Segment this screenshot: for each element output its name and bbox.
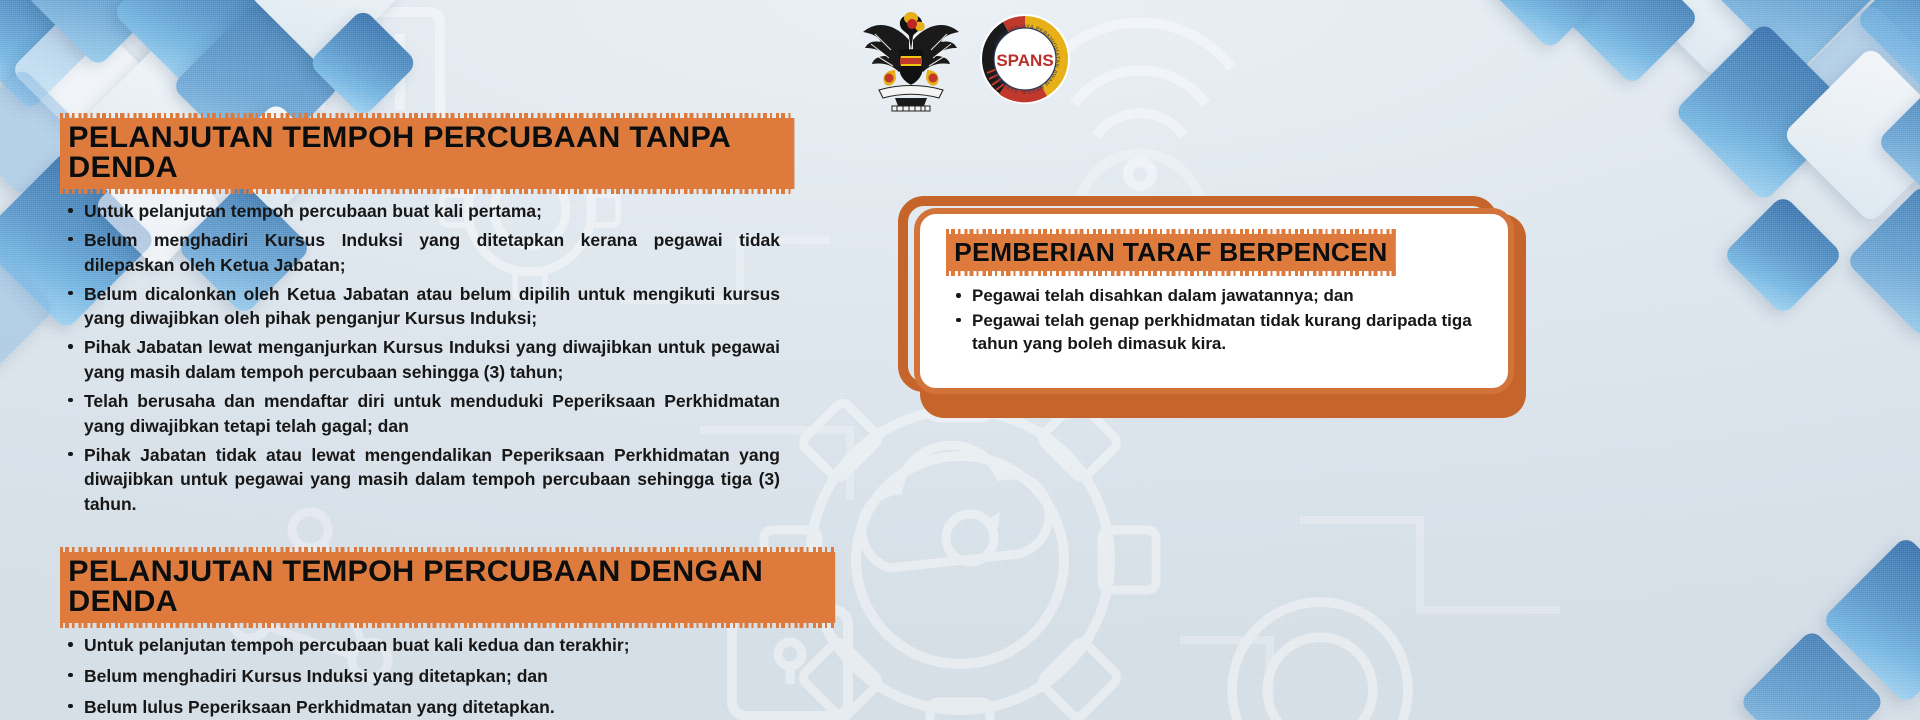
card-heading-wrap: PEMBERIAN TARAF BERPENCEN xyxy=(946,234,1482,271)
pemberian-taraf-berpencen-card: PEMBERIAN TARAF BERPENCEN Pegawai telah … xyxy=(898,196,1526,418)
gear-bottom-right-icon xyxy=(1232,602,1408,720)
section-dengan-denda: PELANJUTAN TEMPOH PERCUBAAN DENGAN DENDA… xyxy=(60,552,820,720)
list-item: Pegawai telah disahkan dalam jawatannya;… xyxy=(946,285,1482,308)
card-heading: PEMBERIAN TARAF BERPENCEN xyxy=(946,234,1396,271)
list-item: Untuk pelanjutan tempoh percubaan buat k… xyxy=(60,633,820,658)
list-item: Pihak Jabatan tidak atau lewat mengendal… xyxy=(60,443,780,518)
list-item: Belum dicalonkan oleh Ketua Jabatan atau… xyxy=(60,282,780,332)
section-tanpa-denda: PELANJUTAN TEMPOH PERCUBAAN TANPA DENDA … xyxy=(60,118,780,521)
section-2-heading-wrap: PELANJUTAN TEMPOH PERCUBAAN DENGAN DENDA xyxy=(60,552,820,623)
logo-row: SURUHANJAYA PERKHIDMATAN AWAM NEGERI SAR… xyxy=(855,6,1075,112)
wifi-icon xyxy=(1048,23,1232,186)
section-1-heading: PELANJUTAN TEMPOH PERCUBAAN TANPA DENDA xyxy=(60,118,794,189)
list-item: Pihak Jabatan lewat menganjurkan Kursus … xyxy=(60,335,780,385)
list-item: Pegawai telah genap perkhidmatan tidak k… xyxy=(946,310,1482,356)
list-item: Belum lulus Peperiksaan Perkhidmatan yan… xyxy=(60,695,820,720)
card-bullets: Pegawai telah disahkan dalam jawatannya;… xyxy=(946,285,1482,356)
spans-logo-icon: SURUHANJAYA PERKHIDMATAN AWAM NEGERI SAR… xyxy=(977,11,1073,107)
list-item: Belum menghadiri Kursus Induksi yang dit… xyxy=(60,228,780,278)
section-2-heading: PELANJUTAN TEMPOH PERCUBAAN DENGAN DENDA xyxy=(60,552,835,623)
section-1-heading-wrap: PELANJUTAN TEMPOH PERCUBAAN TANPA DENDA xyxy=(60,118,780,189)
spans-wordmark: SPANS xyxy=(996,51,1053,70)
cloud-icon xyxy=(862,445,1049,568)
card-body: PEMBERIAN TARAF BERPENCEN Pegawai telah … xyxy=(914,208,1514,394)
sarawak-state-crest-icon xyxy=(855,6,967,112)
section-1-bullets: Untuk pelanjutan tempoh percubaan buat k… xyxy=(60,199,780,517)
list-item: Telah berusaha dan mendaftar diri untuk … xyxy=(60,389,780,439)
poster-canvas: SURUHANJAYA PERKHIDMATAN AWAM NEGERI SAR… xyxy=(0,0,1920,720)
list-item: Belum menghadiri Kursus Induksi yang dit… xyxy=(60,664,820,689)
list-item: Untuk pelanjutan tempoh percubaan buat k… xyxy=(60,199,780,224)
section-2-bullets: Untuk pelanjutan tempoh percubaan buat k… xyxy=(60,633,820,720)
